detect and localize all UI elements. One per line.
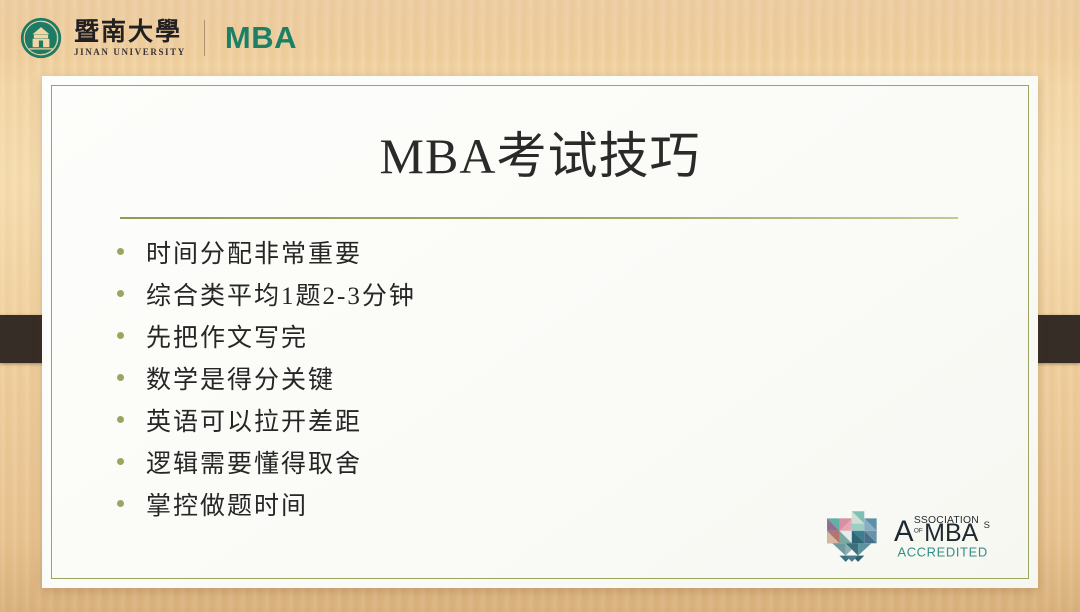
- bullet-dot-icon: [117, 416, 124, 423]
- slide-card: MBA考试技巧 时间分配非常重要 综合类平均1题2-3分钟 先把作文写完 数学是…: [42, 76, 1038, 588]
- bullet-dot-icon: [117, 500, 124, 507]
- bullet-dot-icon: [117, 458, 124, 465]
- page-title: MBA考试技巧: [42, 116, 1038, 188]
- amba-wordmark: A SSOCIATION OF MBA S ACCREDITED: [894, 508, 1006, 564]
- amba-accredited-text: ACCREDITED: [897, 545, 987, 560]
- bullet-dot-icon: [117, 290, 124, 297]
- university-name-block: 暨南大學 JINAN UNIVERSITY: [74, 20, 186, 57]
- title-underline-rule: [120, 217, 958, 219]
- bullet-list: 时间分配非常重要 综合类平均1题2-3分钟 先把作文写完 数学是得分关键 英语可…: [114, 234, 998, 521]
- amba-of-text: OF: [914, 528, 923, 535]
- amba-letter-a: A: [894, 515, 914, 548]
- amba-faceted-diamond-icon: [825, 508, 887, 564]
- bullet-dot-icon: [117, 248, 124, 255]
- list-item: 逻辑需要懂得取舍: [114, 444, 998, 479]
- bullet-dot-icon: [117, 374, 124, 381]
- list-item-label: 先把作文写完: [146, 318, 308, 354]
- amba-s-superscript: S: [984, 520, 990, 531]
- mba-program-brand: MBA: [225, 20, 297, 56]
- list-item: 数学是得分关键: [114, 360, 998, 395]
- bullet-dot-icon: [117, 332, 124, 339]
- list-item: 英语可以拉开差距: [114, 402, 998, 437]
- list-item: 综合类平均1题2-3分钟: [114, 276, 998, 311]
- list-item-label: 英语可以拉开差距: [146, 402, 362, 438]
- slide-canvas: 暨南大學 JINAN UNIVERSITY MBA MBA考试技巧 时间分配非常…: [0, 0, 1080, 612]
- jinan-university-seal-icon: [20, 17, 62, 59]
- university-name-en: JINAN UNIVERSITY: [74, 48, 186, 57]
- list-item-label: 综合类平均1题2-3分钟: [146, 276, 416, 312]
- amba-mba-text: MBA: [924, 519, 978, 547]
- list-item-label: 掌控做题时间: [146, 486, 308, 522]
- university-name-cn: 暨南大學: [74, 20, 186, 45]
- list-item: 时间分配非常重要: [114, 234, 998, 269]
- list-item: 先把作文写完: [114, 318, 998, 353]
- amba-accreditation-logo: A SSOCIATION OF MBA S ACCREDITED: [825, 508, 1006, 564]
- list-item-label: 数学是得分关键: [146, 360, 335, 396]
- list-item-label: 逻辑需要懂得取舍: [146, 444, 362, 480]
- header-divider: [204, 20, 205, 56]
- list-item-label: 时间分配非常重要: [146, 234, 362, 270]
- header-brand-bar: 暨南大學 JINAN UNIVERSITY MBA: [20, 10, 297, 66]
